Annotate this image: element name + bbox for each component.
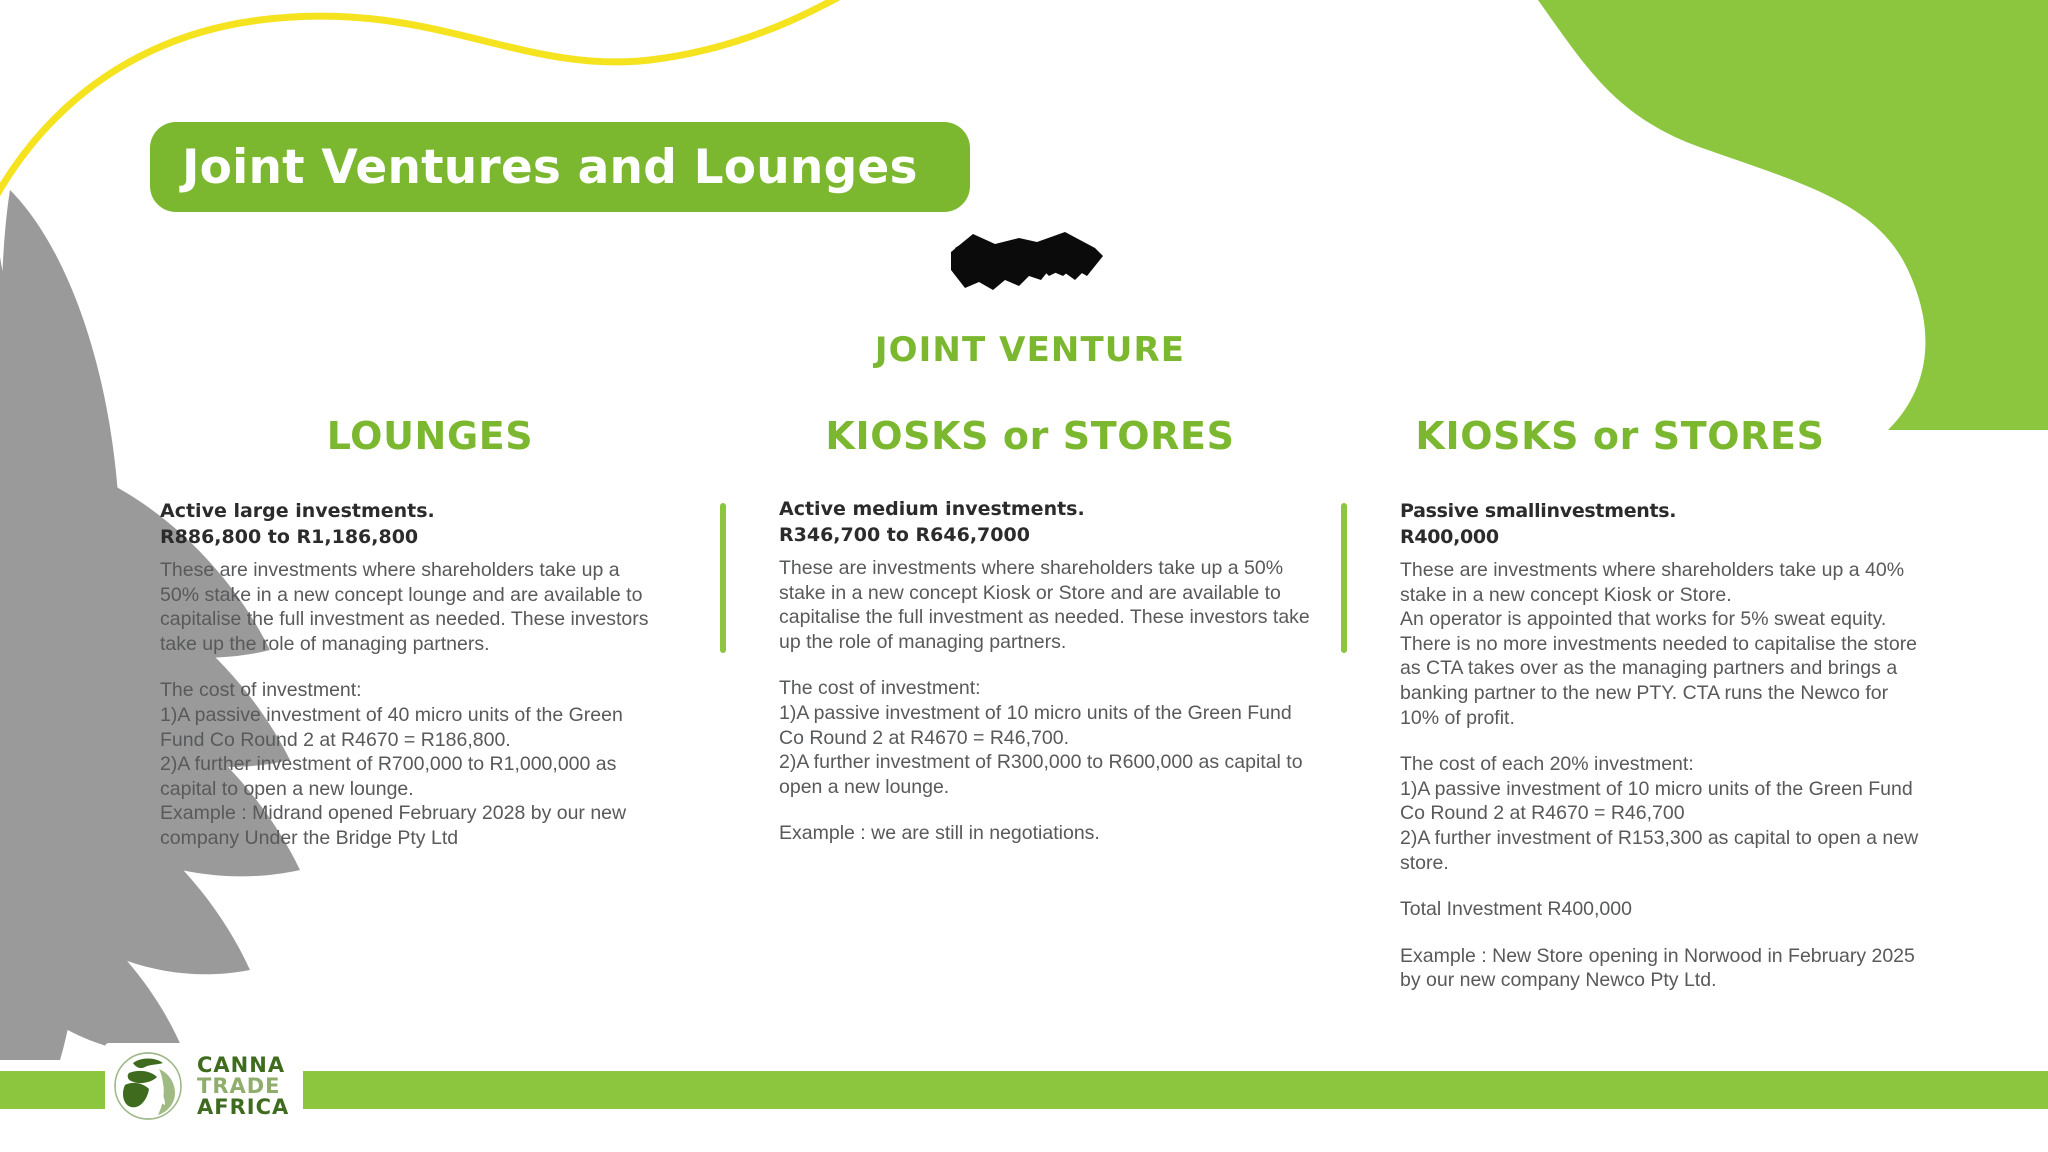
brand-logo: CANNA TRADE AFRICA [105, 1043, 303, 1129]
footer-green-bar [0, 1071, 2048, 1109]
slide-root: Joint Ventures and Lounges JOINT VENTURE… [0, 0, 2048, 1152]
column-kiosks-passive: Passive smallinvestments. R400,000 These… [1400, 498, 1930, 993]
column-paragraph: These are investments where shareholders… [160, 558, 660, 656]
logo-line-trade: TRADE [197, 1076, 289, 1097]
column-divider-left [720, 503, 726, 653]
column-paragraph: Total Investment R400,000 [1400, 897, 1930, 922]
column-heading-kiosks-active: KIOSKS or STORES [740, 414, 1320, 458]
column-lead-text: Active large investments. R886,800 to R1… [160, 498, 660, 550]
column-heading-lounges: LOUNGES [160, 414, 700, 458]
column-paragraph: These are investments where shareholders… [779, 556, 1314, 654]
column-heading-kiosks-passive: KIOSKS or STORES [1330, 414, 1910, 458]
logo-line-africa: AFRICA [197, 1097, 289, 1118]
joint-venture-heading: JOINT VENTURE [760, 330, 1300, 370]
slide-title-banner: Joint Ventures and Lounges [150, 122, 970, 212]
handshake-icon [945, 218, 1115, 308]
column-kiosks-active: Active medium investments. R346,700 to R… [779, 496, 1314, 846]
column-paragraph: These are investments where shareholders… [1400, 558, 1930, 730]
column-divider-right [1341, 503, 1347, 653]
logo-wordmark: CANNA TRADE AFRICA [197, 1055, 289, 1118]
column-paragraph: Example : New Store opening in Norwood i… [1400, 944, 1930, 993]
column-lounges: Active large investments. R886,800 to R1… [160, 498, 660, 851]
page-title: Joint Ventures and Lounges [182, 140, 918, 195]
column-lead-text: Active medium investments. R346,700 to R… [779, 496, 1314, 548]
logo-line-canna: CANNA [197, 1055, 289, 1076]
column-lead-text: Passive smallinvestments. R400,000 [1400, 498, 1930, 550]
column-paragraph: The cost of investment: 1)A passive inve… [779, 676, 1314, 799]
column-paragraph: The cost of investment: 1)A passive inve… [160, 678, 660, 850]
column-paragraph: The cost of each 20% investment: 1)A pas… [1400, 752, 1930, 875]
column-paragraph: Example : we are still in negotiations. [779, 821, 1314, 846]
green-blob-shape [1288, 0, 2048, 430]
globe-leaf-icon [111, 1049, 185, 1123]
